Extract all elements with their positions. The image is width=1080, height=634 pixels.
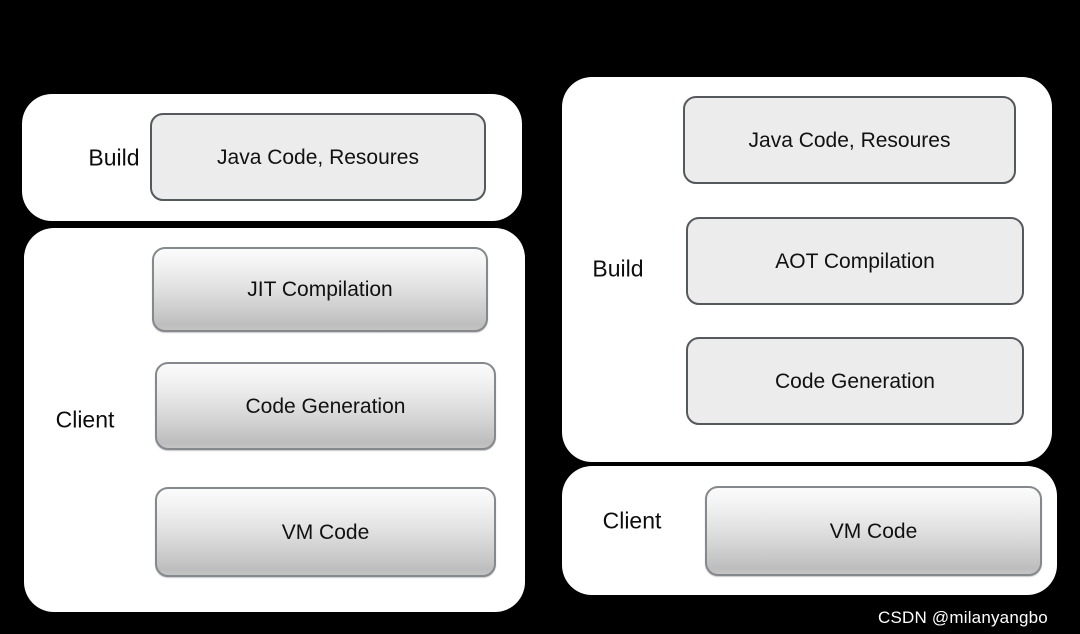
panel-right-build: Build Java Code, Resoures AOT Compilatio… [562, 77, 1052, 462]
panel-label-left-client: Client [56, 409, 115, 432]
panel-left-build: Build Java Code, Resoures [22, 94, 522, 221]
watermark-label: CSDN @milanyangbo [878, 609, 1048, 626]
panel-right-client: Client VM Code [562, 466, 1057, 595]
box-right-build-code-generation: Code Generation [686, 337, 1024, 425]
box-left-client-jit-compilation: JIT Compilation [152, 247, 488, 332]
panel-label-left-build: Build [88, 147, 139, 170]
panel-label-right-build: Build [592, 258, 643, 281]
panel-left-client: Client JIT Compilation Code Generation V… [24, 228, 525, 612]
box-right-build-aot-compilation: AOT Compilation [686, 217, 1024, 305]
box-right-client-vm-code: VM Code [705, 486, 1042, 576]
box-left-client-vm-code: VM Code [155, 487, 496, 577]
panel-label-right-client: Client [603, 510, 662, 533]
diagram-canvas: Build Java Code, Resoures Client JIT Com… [0, 0, 1080, 634]
box-right-build-java-code: Java Code, Resoures [683, 96, 1016, 184]
box-left-client-code-generation: Code Generation [155, 362, 496, 450]
box-left-build-java-code: Java Code, Resoures [150, 113, 486, 201]
